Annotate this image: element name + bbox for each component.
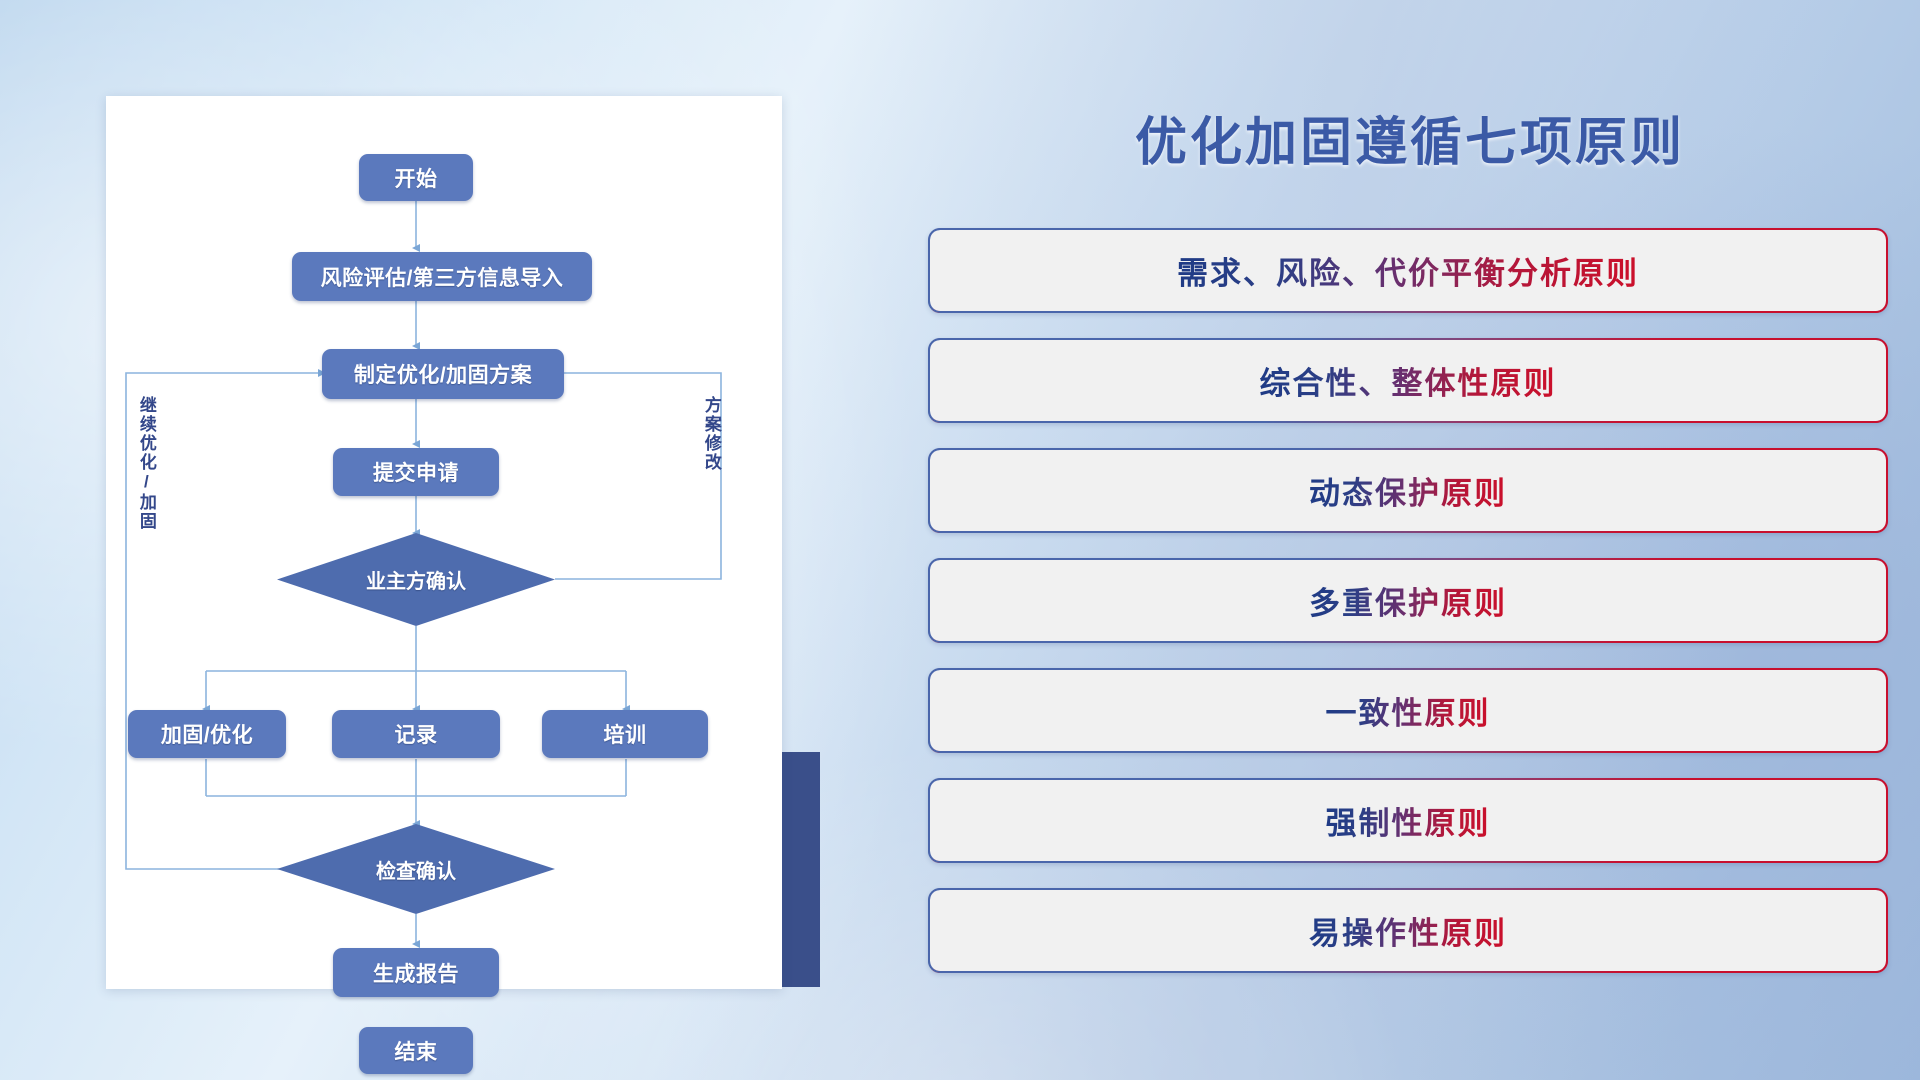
flow-decision-owner-confirm-label: 业主方确认 (366, 565, 466, 594)
principle-card-7-label: 易操作性原则 (1309, 908, 1507, 953)
principle-card-2[interactable]: 综合性、整体性原则 (928, 338, 1888, 423)
principle-card-4[interactable]: 多重保护原则 (928, 558, 1888, 643)
principle-card-5[interactable]: 一致性原则 (928, 668, 1888, 753)
flow-node-generate-report-label: 生成报告 (373, 958, 459, 988)
principle-card-6[interactable]: 强制性原则 (928, 778, 1888, 863)
flow-node-end-label: 结束 (395, 1036, 438, 1066)
flow-node-training-label: 培训 (604, 719, 647, 749)
flow-node-plan-label: 制定优化/加固方案 (354, 359, 532, 389)
flow-node-training[interactable]: 培训 (542, 710, 708, 758)
principles-list: 需求、风险、代价平衡分析原则 综合性、整体性原则 动态保护原则 多重保护原则 一… (928, 228, 1888, 998)
flow-edge-label-left: 继续优化/加固 (137, 396, 155, 531)
panel-title: 优化加固遵循七项原则 (960, 100, 1860, 175)
flow-node-reinforce-label: 加固/优化 (161, 719, 253, 749)
flow-decision-check-confirm-label: 检查确认 (376, 855, 456, 884)
flow-node-start-label: 开始 (395, 163, 438, 193)
principle-card-1[interactable]: 需求、风险、代价平衡分析原则 (928, 228, 1888, 313)
principle-card-4-label: 多重保护原则 (1309, 578, 1507, 623)
principle-card-1-label: 需求、风险、代价平衡分析原则 (1177, 248, 1639, 293)
flow-edge-label-right: 方案修改 (702, 396, 720, 472)
flow-node-reinforce[interactable]: 加固/优化 (128, 710, 286, 758)
flow-node-submit-application[interactable]: 提交申请 (333, 448, 499, 496)
flow-node-start[interactable]: 开始 (359, 154, 473, 201)
flow-node-generate-report[interactable]: 生成报告 (333, 948, 499, 997)
principles-panel: 优化加固遵循七项原则 需求、风险、代价平衡分析原则 综合性、整体性原则 动态保护… (900, 0, 1920, 1080)
flow-node-record[interactable]: 记录 (332, 710, 500, 758)
flow-node-end[interactable]: 结束 (359, 1027, 473, 1074)
principle-card-6-label: 强制性原则 (1326, 798, 1491, 843)
principle-card-2-label: 综合性、整体性原则 (1260, 358, 1557, 403)
flowchart-region: 开始 风险评估/第三方信息导入 制定优化/加固方案 提交申请 业主方确认 加固/… (0, 0, 860, 1080)
flow-node-submit-application-label: 提交申请 (373, 457, 459, 487)
principle-card-3[interactable]: 动态保护原则 (928, 448, 1888, 533)
principle-card-3-label: 动态保护原则 (1309, 468, 1507, 513)
principle-card-7[interactable]: 易操作性原则 (928, 888, 1888, 973)
flow-node-risk-assessment-label: 风险评估/第三方信息导入 (321, 262, 564, 292)
flow-node-plan[interactable]: 制定优化/加固方案 (322, 349, 564, 399)
flow-node-record-label: 记录 (395, 719, 438, 749)
flow-node-risk-assessment[interactable]: 风险评估/第三方信息导入 (292, 252, 592, 301)
principle-card-5-label: 一致性原则 (1326, 688, 1491, 733)
flowchart-card: 开始 风险评估/第三方信息导入 制定优化/加固方案 提交申请 业主方确认 加固/… (106, 96, 782, 989)
